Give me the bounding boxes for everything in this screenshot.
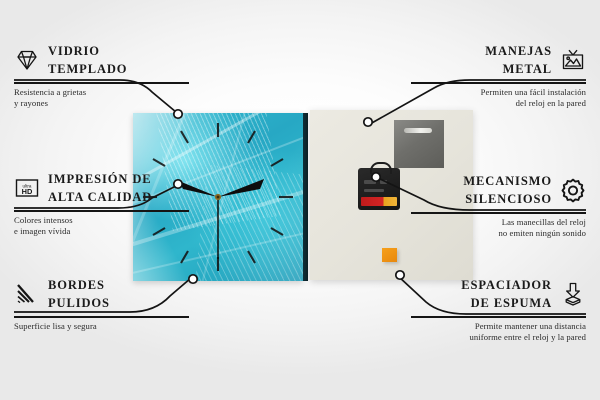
feature-title: ALTA CALIDAD xyxy=(48,190,152,204)
mechanism-detail xyxy=(364,180,376,184)
feature-description: y rayones xyxy=(14,98,189,109)
feature-title: TEMPLADO xyxy=(48,62,127,76)
svg-text:HD: HD xyxy=(22,187,33,196)
feature-description: Las manecillas del reloj xyxy=(411,217,586,228)
feature-description: uniforme entre el reloj y la pared xyxy=(411,332,586,343)
feature-impresion-alta-calidad: ultra HD IMPRESIÓN DE ALTA CALIDAD Color… xyxy=(14,170,189,237)
feature-mecanismo-silencioso: MECANISMO SILENCIOSO Las manecillas del … xyxy=(411,172,586,239)
feature-title: PULIDOS xyxy=(48,296,110,310)
feature-divider xyxy=(411,316,586,318)
feature-description: Resistencia a grietas xyxy=(14,87,189,98)
polished-edge-icon xyxy=(14,281,40,307)
feature-title: BORDES xyxy=(48,278,105,292)
feature-title: ESPACIADOR xyxy=(461,278,552,292)
feature-manejas-metal: MANEJAS METAL Permiten una fácil instala… xyxy=(411,42,586,109)
feature-title: MANEJAS xyxy=(485,44,552,58)
feature-title: MECANISMO xyxy=(463,174,552,188)
feature-divider xyxy=(14,82,189,84)
feature-title: METAL xyxy=(503,62,552,76)
wall-frame-icon xyxy=(560,47,586,73)
gear-icon xyxy=(560,177,586,203)
feature-divider xyxy=(14,210,189,212)
feature-divider xyxy=(411,212,586,214)
feature-espaciador-espuma: ESPACIADOR DE ESPUMA Permite mantener un… xyxy=(411,276,586,343)
feature-description: Permiten una fácil instalación xyxy=(411,87,586,98)
infographic-canvas: VIDRIO TEMPLADO Resistencia a grietas y … xyxy=(0,0,600,400)
feature-description: e imagen vívida xyxy=(14,226,189,237)
feature-description: no emiten ningún sonido xyxy=(411,228,586,239)
clock-mechanism xyxy=(358,168,400,210)
feature-description: Permite mantener una distancia xyxy=(411,321,586,332)
foam-spacer-icon xyxy=(560,281,586,307)
feature-divider xyxy=(411,82,586,84)
hanger-keyhole-slot xyxy=(404,128,432,133)
feature-description: Superficie lisa y segura xyxy=(14,321,189,332)
feature-bordes-pulidos: BORDES PULIDOS Superficie lisa y segura xyxy=(14,276,189,332)
diamond-icon xyxy=(14,47,40,73)
feature-vidrio-templado: VIDRIO TEMPLADO Resistencia a grietas y … xyxy=(14,42,189,109)
mechanism-detail xyxy=(364,189,384,192)
feature-divider xyxy=(14,316,189,318)
feature-title: IMPRESIÓN DE xyxy=(48,172,152,186)
feature-title: VIDRIO xyxy=(48,44,100,58)
feature-title: SILENCIOSO xyxy=(465,192,552,206)
tempered-glass-edge xyxy=(303,113,308,281)
ultra-hd-icon: ultra HD xyxy=(14,175,40,201)
mechanism-hook xyxy=(370,162,392,174)
foam-spacer xyxy=(382,248,397,262)
mechanism-detail xyxy=(380,180,387,184)
metal-hanger-plate xyxy=(394,120,444,168)
feature-description: Colores intensos xyxy=(14,215,189,226)
feature-description: del reloj en la pared xyxy=(411,98,586,109)
battery-strip xyxy=(361,197,397,206)
feature-title: DE ESPUMA xyxy=(471,296,552,310)
